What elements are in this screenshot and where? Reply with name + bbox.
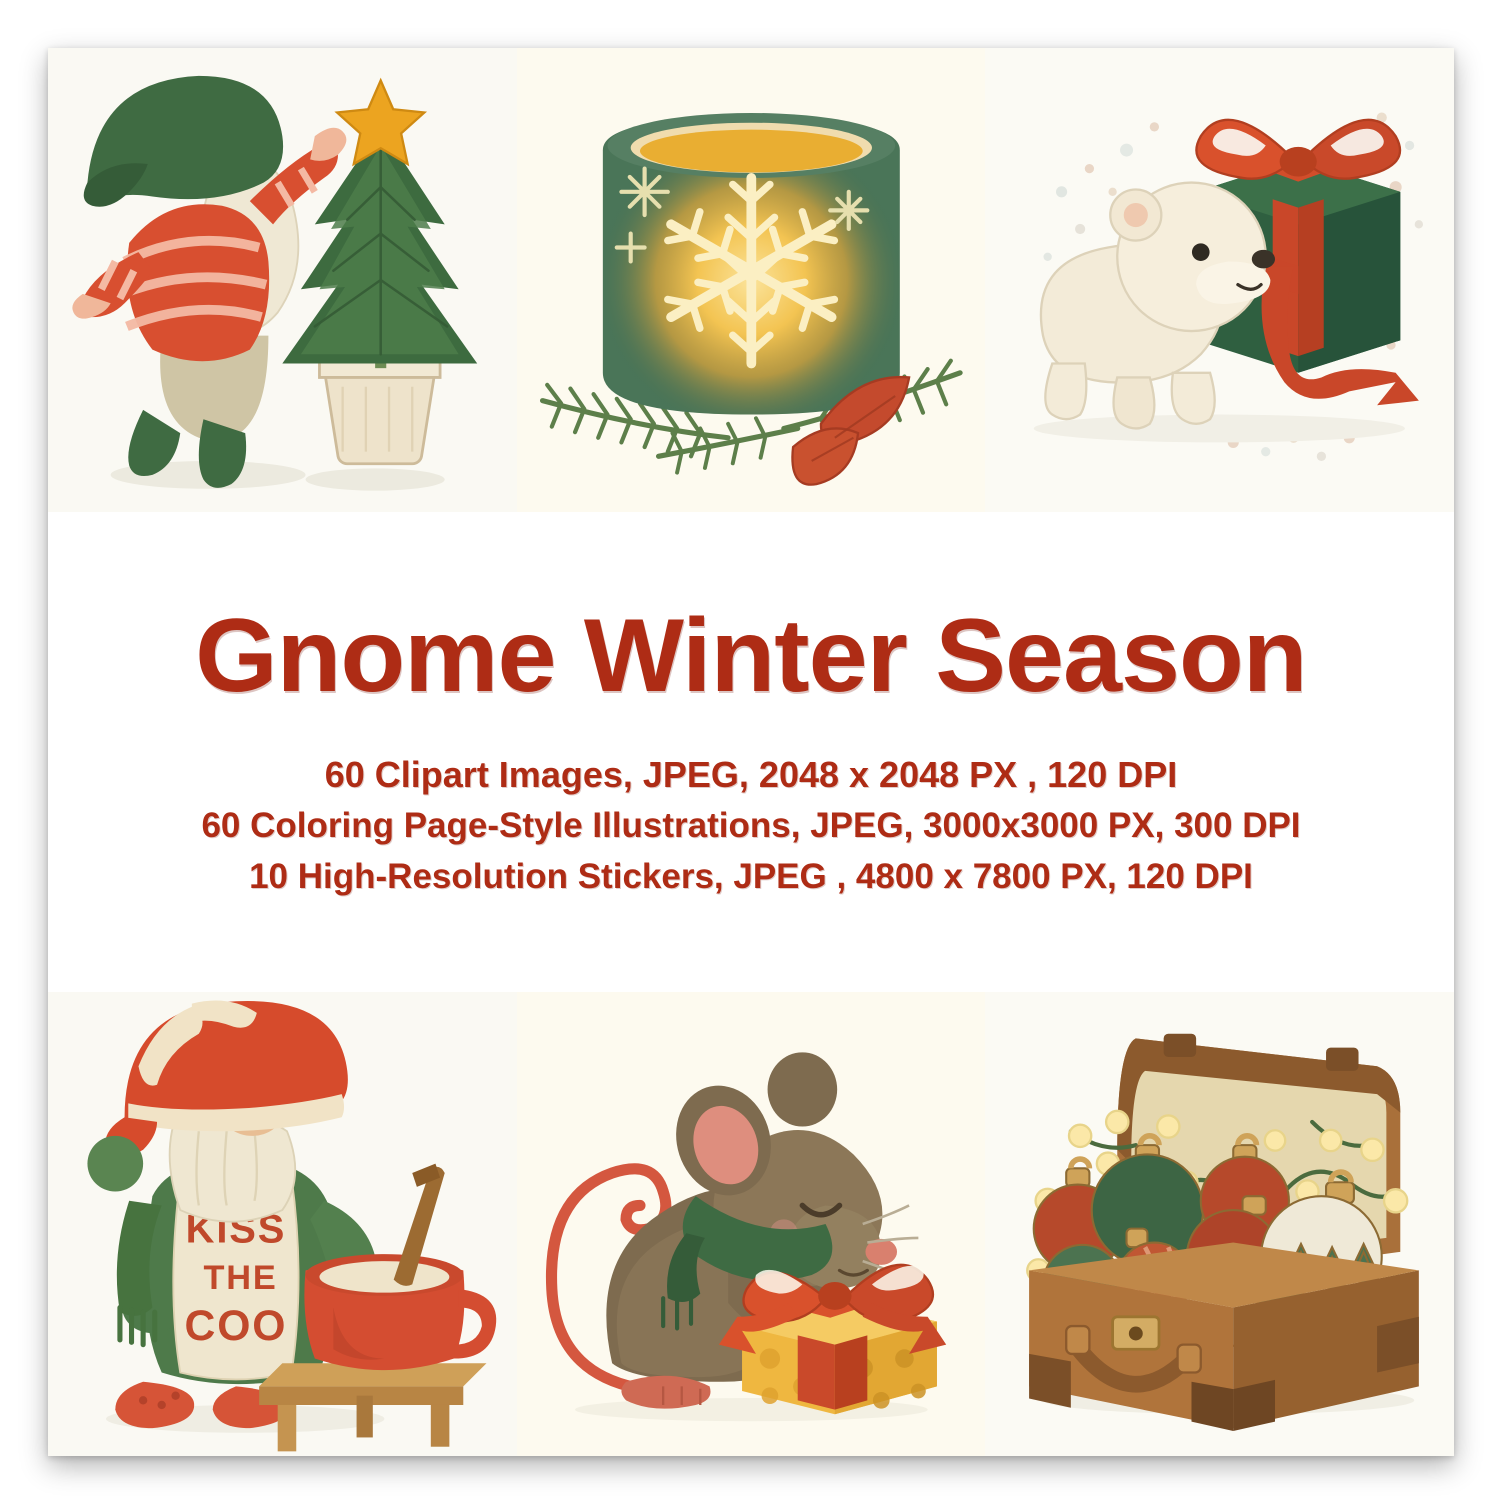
svg-text:THE: THE [203, 1259, 277, 1297]
suitcase-of-ornaments-art [985, 992, 1454, 1456]
spec-list: 60 Clipart Images, JPEG, 2048 x 2048 PX … [201, 752, 1300, 900]
spec-line-stickers: 10 High-Resolution Stickers, JPEG , 4800… [249, 855, 1253, 900]
spec-line-clipart: 60 Clipart Images, JPEG, 2048 x 2048 PX … [325, 752, 1178, 798]
snowflake-candle-art [517, 48, 986, 512]
polar-bear-cub-art [985, 48, 1454, 512]
product-card: Gnome Winter Season 60 Clipart Images, J… [48, 48, 1454, 1456]
gallery-image-gnome-decorating-tree[interactable] [48, 48, 517, 512]
product-text-block: Gnome Winter Season 60 Clipart Images, J… [48, 512, 1454, 992]
gallery-image-suitcase-of-ornaments[interactable] [985, 992, 1454, 1456]
gallery-bottom-row: KISS THE COO [48, 992, 1454, 1456]
gallery-top-row [48, 48, 1454, 512]
gallery-image-gnome-with-cocoa-mug[interactable]: KISS THE COO [48, 992, 517, 1456]
screenshot-root: Gnome Winter Season 60 Clipart Images, J… [0, 0, 1500, 1500]
svg-text:COO: COO [185, 1302, 288, 1350]
gallery-image-snowflake-candle-holder[interactable] [517, 48, 986, 512]
mouse-with-cheese-gift-art [517, 992, 986, 1456]
gallery-image-polar-bear-cub-with-gift[interactable] [985, 48, 1454, 512]
spec-line-coloring-pages: 60 Coloring Page-Style Illustrations, JP… [201, 804, 1300, 849]
gnome-with-cocoa-art: KISS THE COO [48, 992, 517, 1456]
gnome-decorating-tree-art [48, 48, 517, 512]
page-title: Gnome Winter Season [195, 604, 1306, 708]
gallery-image-mouse-with-cheese-gift[interactable] [517, 992, 986, 1456]
